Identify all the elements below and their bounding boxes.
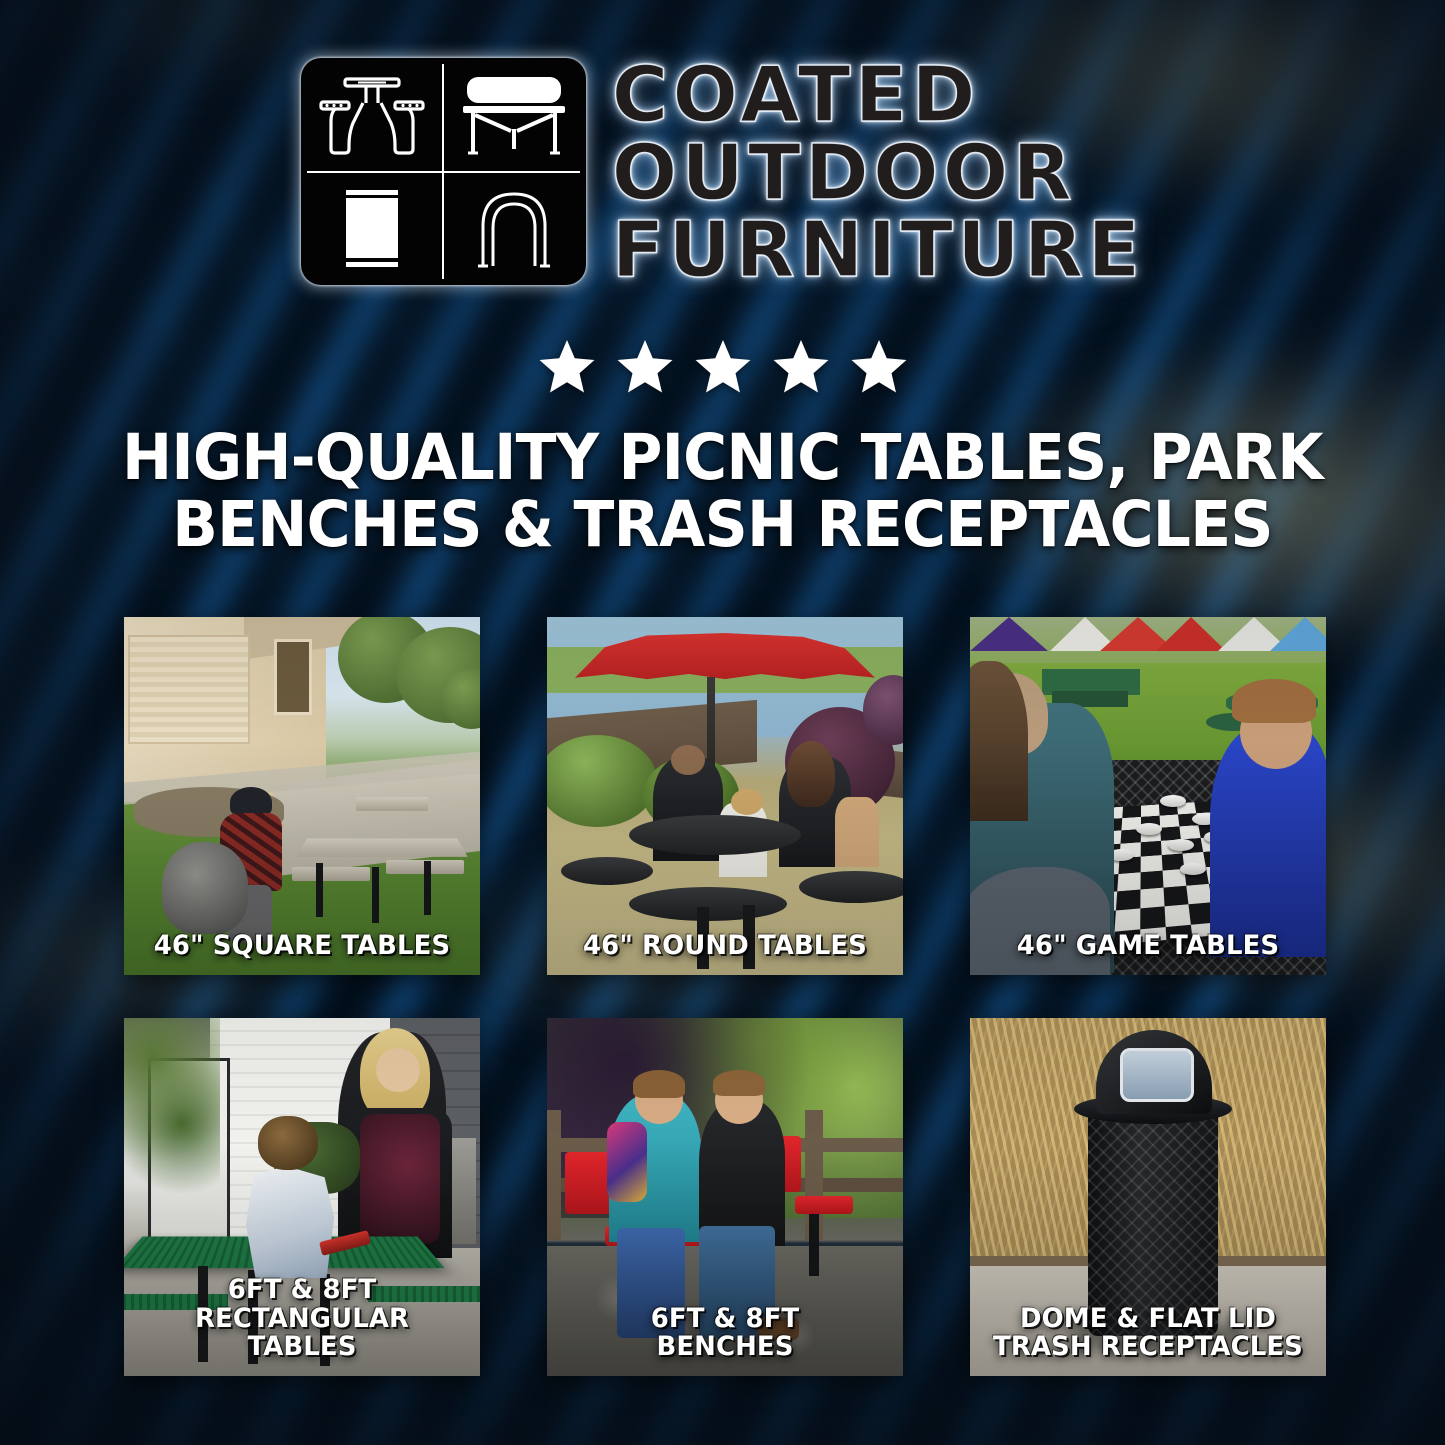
brand-header: COATED OUTDOOR FURNITURE (0, 58, 1445, 287)
star-icon (692, 336, 754, 396)
bench-icon (443, 58, 586, 172)
product-label: 6FT & 8FT RECTANGULAR TABLES (137, 1276, 467, 1362)
trash-receptacle-icon (301, 172, 444, 286)
product-tile-rectangular-tables[interactable]: 6FT & 8FT RECTANGULAR TABLES (124, 1018, 480, 1376)
star-icon (536, 336, 598, 396)
product-photo-square-tables (124, 617, 480, 975)
picnic-table-icon (301, 58, 444, 172)
product-label-line-1: 6FT & 8FT (560, 1305, 890, 1334)
brand-line-3: FURNITURE (612, 215, 1145, 287)
poster-canvas: COATED OUTDOOR FURNITURE HIGH-QUALITY PI… (0, 0, 1445, 1445)
product-label-line-2: BENCHES (560, 1333, 890, 1362)
star-icon (614, 336, 676, 396)
product-label-line-1: 46" GAME TABLES (983, 932, 1313, 961)
bike-rack-icon (443, 172, 586, 286)
product-label: DOME & FLAT LID TRASH RECEPTACLES (983, 1305, 1313, 1362)
product-grid: 46" SQUARE TABLES (124, 617, 1330, 1376)
product-tile-trash-receptacles[interactable]: DOME & FLAT LID TRASH RECEPTACLES (970, 1018, 1326, 1376)
product-label-line-1: 6FT & 8FT (137, 1276, 467, 1305)
product-label-line-1: DOME & FLAT LID (983, 1305, 1313, 1334)
product-photo-round-tables (547, 617, 903, 975)
product-label-line-1: 46" ROUND TABLES (560, 932, 890, 961)
star-icon (770, 336, 832, 396)
brand-line-1: COATED (612, 60, 1145, 132)
headline: HIGH-QUALITY PICNIC TABLES, PARK BENCHES… (93, 425, 1352, 559)
product-label: 46" ROUND TABLES (560, 932, 890, 961)
product-tile-game-tables[interactable]: 46" GAME TABLES (970, 617, 1326, 975)
headline-line-2: BENCHES & TRASH RECEPTACLES (93, 492, 1352, 559)
product-photo-game-tables (970, 617, 1326, 975)
brand-line-2: OUTDOOR (612, 138, 1145, 210)
product-tile-square-tables[interactable]: 46" SQUARE TABLES (124, 617, 480, 975)
headline-line-1: HIGH-QUALITY PICNIC TABLES, PARK (93, 425, 1352, 492)
product-label-line-2: TRASH RECEPTACLES (983, 1333, 1313, 1362)
star-icon (848, 336, 910, 396)
company-logo-mark (301, 58, 586, 285)
product-label: 6FT & 8FT BENCHES (560, 1305, 890, 1362)
product-label: 46" SQUARE TABLES (137, 932, 467, 961)
product-label: 46" GAME TABLES (983, 932, 1313, 961)
product-label-line-1: 46" SQUARE TABLES (137, 932, 467, 961)
star-rating (0, 336, 1445, 396)
product-tile-benches[interactable]: 6FT & 8FT BENCHES (547, 1018, 903, 1376)
product-label-line-2: RECTANGULAR TABLES (137, 1305, 467, 1362)
brand-wordmark: COATED OUTDOOR FURNITURE (612, 58, 1145, 287)
poster-content: COATED OUTDOOR FURNITURE HIGH-QUALITY PI… (0, 0, 1445, 1445)
product-tile-round-tables[interactable]: 46" ROUND TABLES (547, 617, 903, 975)
